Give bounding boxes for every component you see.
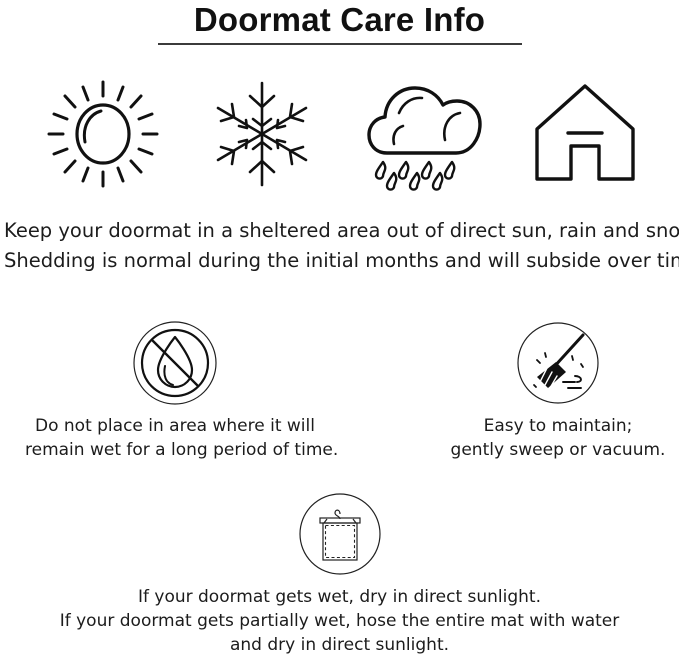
sun-icon xyxy=(41,74,165,192)
caption-line-1: If your doormat gets wet, dry in direct … xyxy=(0,585,679,609)
rain-cloud-icon xyxy=(361,74,485,192)
caption-line-3: and dry in direct sunlight. xyxy=(0,633,679,657)
care-item-sweep: Easy to maintain; gently sweep or vacuum… xyxy=(408,320,679,462)
weather-icon-row xyxy=(0,74,679,194)
care-item-no-water-caption: Do not place in area where it will remai… xyxy=(25,414,325,462)
hanging-mat-icon xyxy=(298,492,382,576)
care-items-row: Do not place in area where it will remai… xyxy=(0,320,679,465)
caption-line-1: Do not place in area where it will xyxy=(25,414,325,438)
caption-line-2: remain wet for a long period of time. xyxy=(25,438,325,462)
house-icon xyxy=(523,74,647,192)
page-header: Doormat Care Info xyxy=(0,0,679,45)
intro-line-1: Keep your doormat in a sheltered area ou… xyxy=(4,216,679,246)
broom-icon xyxy=(515,320,601,406)
caption-line-2: gently sweep or vacuum. xyxy=(408,438,679,462)
no-water-icon xyxy=(132,320,218,406)
care-item-sweep-caption: Easy to maintain; gently sweep or vacuum… xyxy=(408,414,679,462)
drying-instructions-caption: If your doormat gets wet, dry in direct … xyxy=(0,585,679,657)
page-title: Doormat Care Info xyxy=(0,0,679,39)
caption-line-2: If your doormat gets partially wet, hose… xyxy=(0,609,679,633)
intro-paragraph: Keep your doormat in a sheltered area ou… xyxy=(4,216,679,276)
title-divider xyxy=(158,43,522,45)
snowflake-icon xyxy=(200,74,324,192)
drying-instructions: If your doormat gets wet, dry in direct … xyxy=(0,492,679,657)
caption-line-1: Easy to maintain; xyxy=(408,414,679,438)
intro-line-2: Shedding is normal during the initial mo… xyxy=(4,246,679,276)
care-item-no-water: Do not place in area where it will remai… xyxy=(25,320,325,462)
